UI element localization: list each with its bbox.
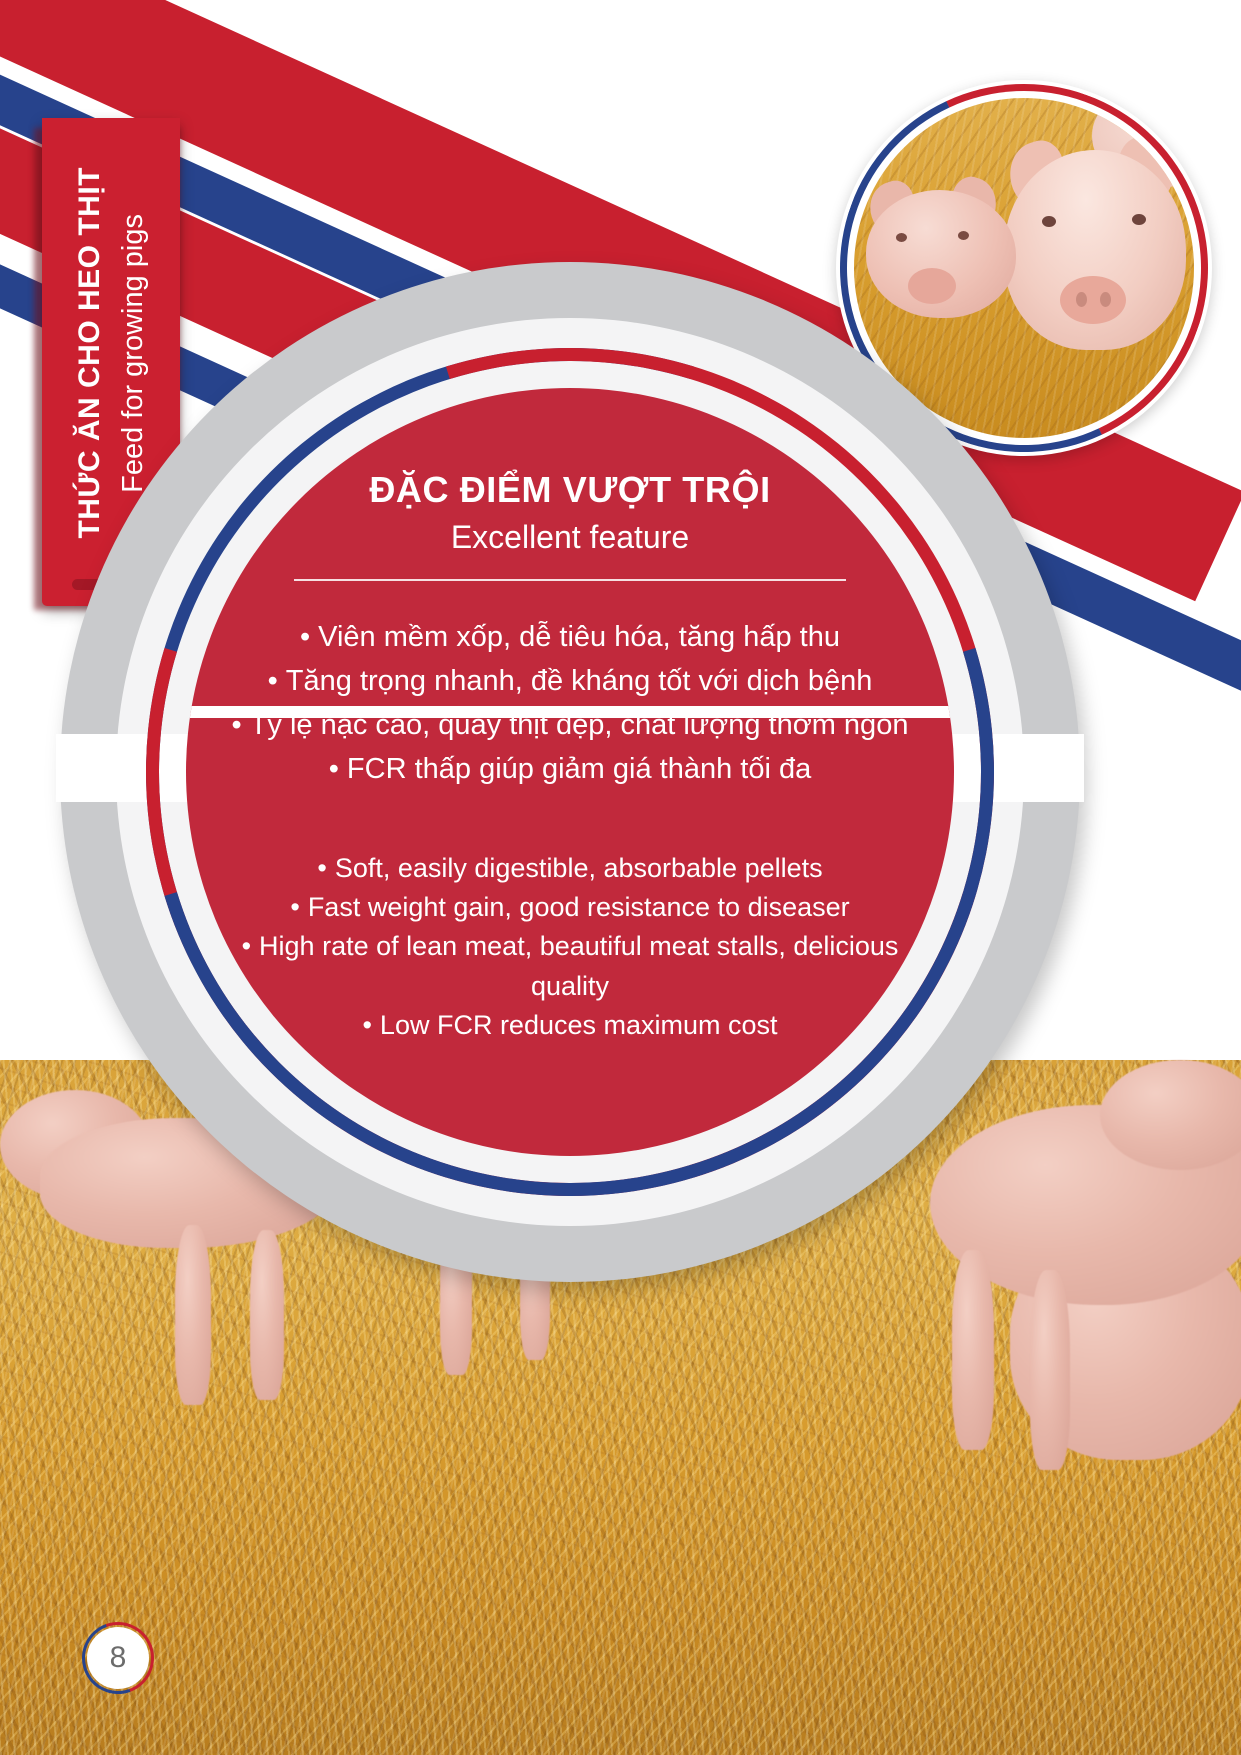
heading-vn: ĐẶC ĐIỂM VƯỢT TRỘI	[186, 470, 954, 510]
feature-text-vn: Tỷ lệ nạc cao, quầy thịt đẹp, chất lượng…	[250, 709, 909, 741]
piglet-eye	[1042, 216, 1056, 227]
piglet-eye	[958, 231, 969, 240]
features-list-en: •Soft, easily digestible, absorbable pel…	[186, 849, 954, 1045]
list-item: •Tăng trọng nhanh, đề kháng tốt với dịch…	[186, 659, 954, 703]
feature-text-en: Fast weight gain, good resistance to dis…	[308, 892, 850, 922]
bullet-icon: •	[232, 709, 242, 741]
bullet-icon: •	[300, 621, 310, 653]
feature-text-en: Low FCR reduces maximum cost	[380, 1010, 778, 1040]
bullet-icon: •	[329, 753, 339, 785]
bullet-icon: •	[290, 892, 299, 922]
piglet-eye	[896, 233, 907, 242]
list-item: •High rate of lean meat, beautiful meat …	[226, 927, 914, 1005]
features-list-vn: •Viên mềm xốp, dễ tiêu hóa, tăng hấp thu…	[186, 615, 954, 791]
feature-content: ĐẶC ĐIỂM VƯỢT TRỘI Excellent feature •Vi…	[186, 388, 954, 1156]
feature-text-en: High rate of lean meat, beautiful meat s…	[259, 931, 898, 1000]
pig-leg	[1030, 1270, 1070, 1470]
list-item: •Low FCR reduces maximum cost	[226, 1006, 914, 1045]
bullet-icon: •	[268, 665, 278, 697]
list-item: •Viên mềm xốp, dễ tiêu hóa, tăng hấp thu	[186, 615, 954, 659]
piglet-eye	[1132, 214, 1146, 225]
feature-text-vn: FCR thấp giúp giảm giá thành tối đa	[347, 753, 811, 785]
bullet-icon: •	[242, 931, 251, 961]
brochure-page: THỨC ĂN CHO HEO THỊT Feed for growing pi…	[0, 0, 1241, 1755]
heading-divider	[294, 579, 846, 581]
heading-en: Excellent feature	[186, 520, 954, 555]
list-item: •Fast weight gain, good resistance to di…	[226, 888, 914, 927]
feature-text-en: Soft, easily digestible, absorbable pell…	[335, 853, 823, 883]
feature-text-vn: Viên mềm xốp, dễ tiêu hóa, tăng hấp thu	[318, 621, 840, 653]
page-number: 8	[87, 1627, 149, 1689]
list-item: •Tỷ lệ nạc cao, quầy thịt đẹp, chất lượn…	[186, 703, 954, 747]
feature-circle: ĐẶC ĐIỂM VƯỢT TRỘI Excellent feature •Vi…	[60, 262, 1080, 1282]
list-item: •Soft, easily digestible, absorbable pel…	[226, 849, 914, 888]
bullet-icon: •	[317, 853, 326, 883]
list-item: •FCR thấp giúp giảm giá thành tối đa	[186, 747, 954, 791]
feature-text-vn: Tăng trọng nhanh, đề kháng tốt với dịch …	[286, 665, 873, 697]
bullet-icon: •	[362, 1010, 371, 1040]
page-number-badge: 8	[82, 1622, 154, 1694]
piglet-nostril	[1100, 292, 1111, 307]
